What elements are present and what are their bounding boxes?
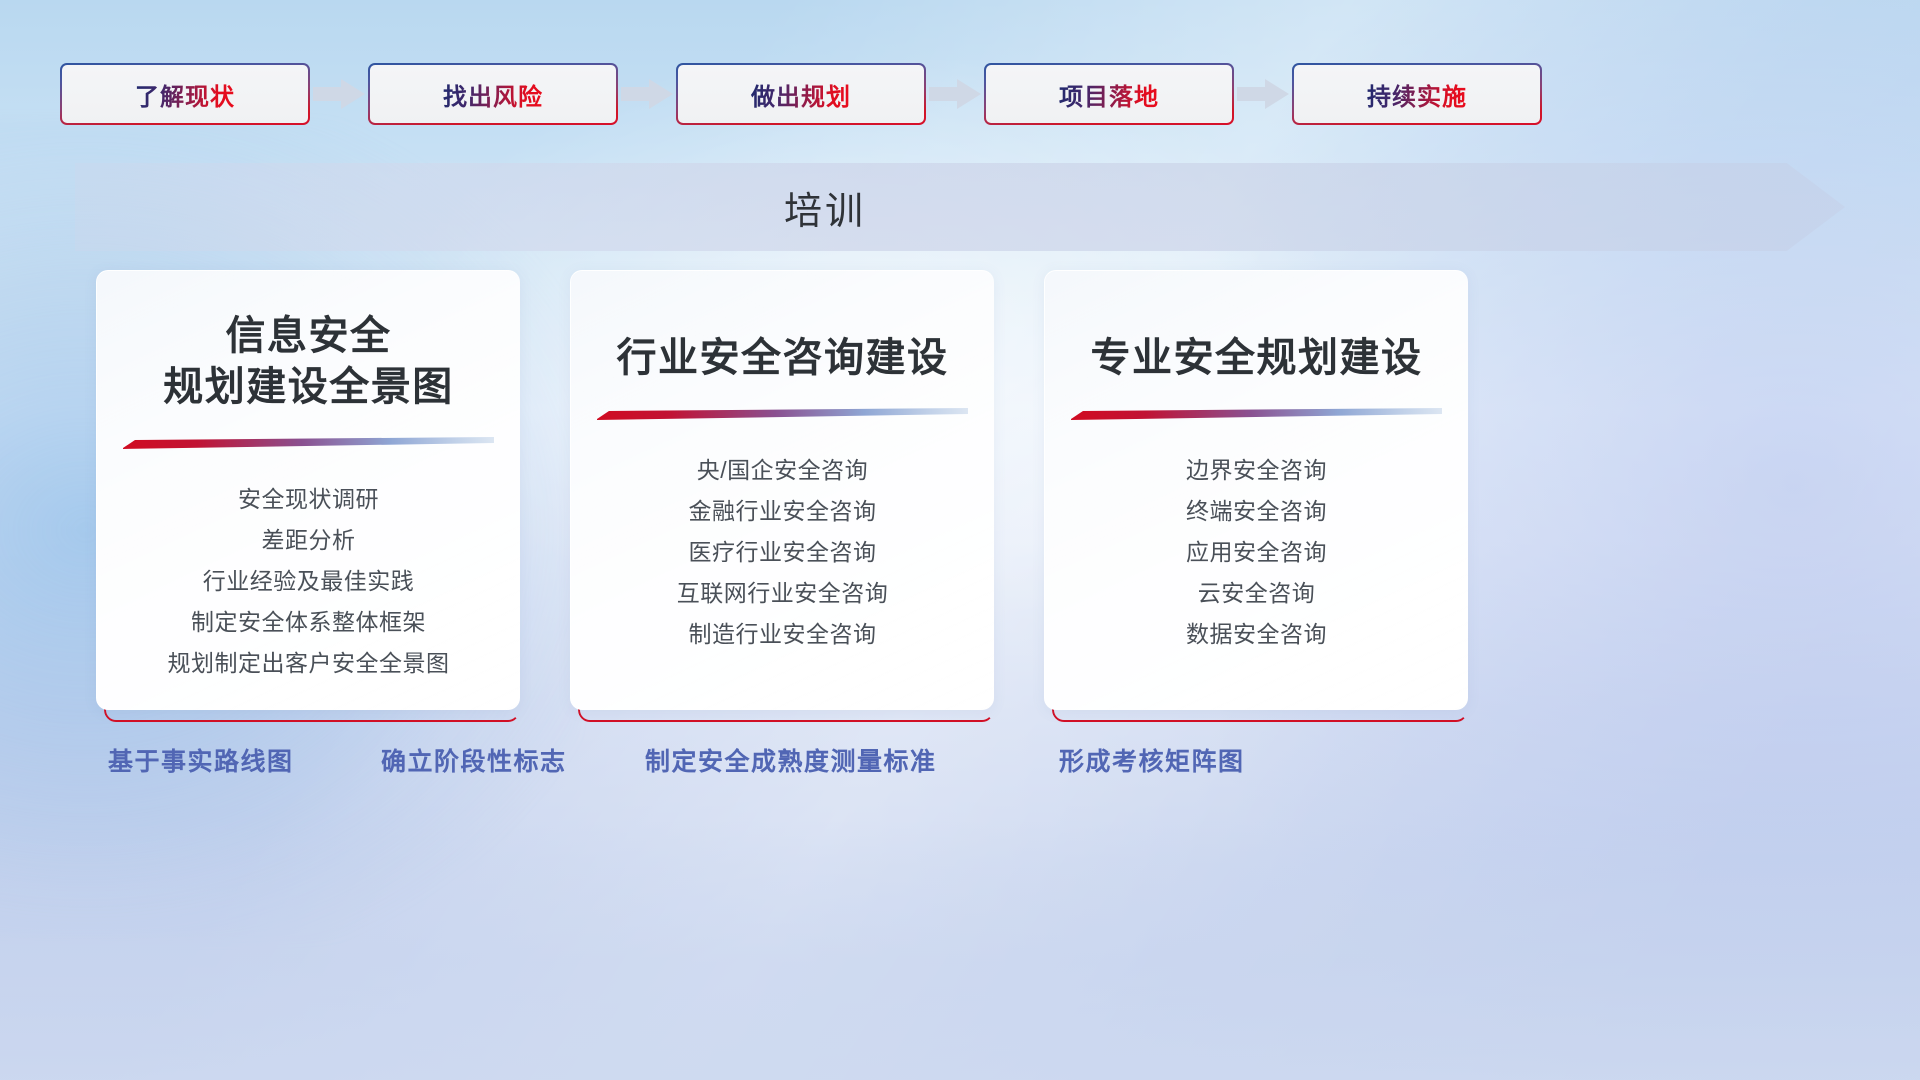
step-arrow-icon-1 [313, 79, 365, 109]
step-label-4: 项目落地 [1059, 77, 1159, 112]
card-3-divider [1071, 408, 1442, 420]
card-1-item-4: 制定安全体系整体框架 [97, 602, 520, 643]
footnote-row: 基于事实路线图 确立阶段性标志 制定安全成熟度测量标准 形成考核矩阵图 [0, 742, 1920, 788]
card-2-divider [597, 408, 968, 420]
card-1-item-1: 安全现状调研 [97, 479, 520, 520]
step-box-4[interactable]: 项目落地 [984, 63, 1234, 125]
banner-label: 培训 [75, 163, 1575, 251]
step-label-2: 找出风险 [443, 77, 543, 112]
step-label-5: 持续实施 [1367, 77, 1467, 112]
card-2-item-list: 央/国企安全咨询 金融行业安全咨询 医疗行业安全咨询 互联网行业安全咨询 制造行… [571, 450, 994, 655]
footnote-2: 确立阶段性标志 [381, 742, 567, 778]
card-1-title-line-2: 规划建设全景图 [97, 362, 520, 413]
background-bottom-fade [0, 820, 1920, 1080]
step-arrow-icon-4 [1237, 79, 1289, 109]
training-banner: 培训 [75, 163, 1845, 251]
card-3-item-5: 数据安全咨询 [1045, 614, 1468, 655]
card-2[interactable]: 行业安全咨询建设 [570, 270, 994, 722]
step-box-1[interactable]: 了解现状 [60, 63, 310, 125]
card-1-panel: 信息安全 规划建设全景图 [96, 270, 520, 710]
process-step-flow: 了解现状 找出风险 做出规划 项目落地 持续实施 [60, 63, 1920, 125]
footnote-1: 基于事实路线图 [108, 742, 294, 778]
step-box-2[interactable]: 找出风险 [368, 63, 618, 125]
card-2-title: 行业安全咨询建设 [571, 333, 994, 384]
footnote-4: 形成考核矩阵图 [1059, 742, 1245, 778]
card-1-title-line-1: 信息安全 [97, 311, 520, 362]
card-3-item-list: 边界安全咨询 终端安全咨询 应用安全咨询 云安全咨询 数据安全咨询 [1045, 450, 1468, 655]
step-label-3: 做出规划 [751, 77, 851, 112]
footnote-3: 制定安全成熟度测量标准 [645, 742, 937, 778]
card-1-item-2: 差距分析 [97, 520, 520, 561]
card-2-panel: 行业安全咨询建设 [570, 270, 994, 710]
card-3-title: 专业安全规划建设 [1045, 333, 1468, 384]
card-3-item-4: 云安全咨询 [1045, 573, 1468, 614]
card-3-item-3: 应用安全咨询 [1045, 532, 1468, 573]
card-1-item-list: 安全现状调研 差距分析 行业经验及最佳实践 制定安全体系整体框架 规划制定出客户… [97, 479, 520, 684]
step-arrow-icon-2 [621, 79, 673, 109]
card-2-item-1: 央/国企安全咨询 [571, 450, 994, 491]
card-2-item-3: 医疗行业安全咨询 [571, 532, 994, 573]
card-1[interactable]: 信息安全 规划建设全景图 [96, 270, 520, 722]
card-row: 信息安全 规划建设全景图 [0, 270, 1920, 730]
card-1-item-3: 行业经验及最佳实践 [97, 561, 520, 602]
step-box-5[interactable]: 持续实施 [1292, 63, 1542, 125]
card-1-item-5: 规划制定出客户安全全景图 [97, 643, 520, 684]
step-box-3[interactable]: 做出规划 [676, 63, 926, 125]
card-2-title-line-1: 行业安全咨询建设 [571, 333, 994, 384]
card-1-divider [123, 437, 494, 449]
card-3-panel: 专业安全规划建设 [1044, 270, 1468, 710]
card-2-item-4: 互联网行业安全咨询 [571, 573, 994, 614]
card-2-item-2: 金融行业安全咨询 [571, 491, 994, 532]
card-3-item-2: 终端安全咨询 [1045, 491, 1468, 532]
card-1-title: 信息安全 规划建设全景图 [97, 311, 520, 413]
step-arrow-icon-3 [929, 79, 981, 109]
card-2-item-5: 制造行业安全咨询 [571, 614, 994, 655]
card-3[interactable]: 专业安全规划建设 [1044, 270, 1468, 722]
card-3-title-line-1: 专业安全规划建设 [1045, 333, 1468, 384]
card-3-item-1: 边界安全咨询 [1045, 450, 1468, 491]
step-label-1: 了解现状 [135, 77, 235, 112]
